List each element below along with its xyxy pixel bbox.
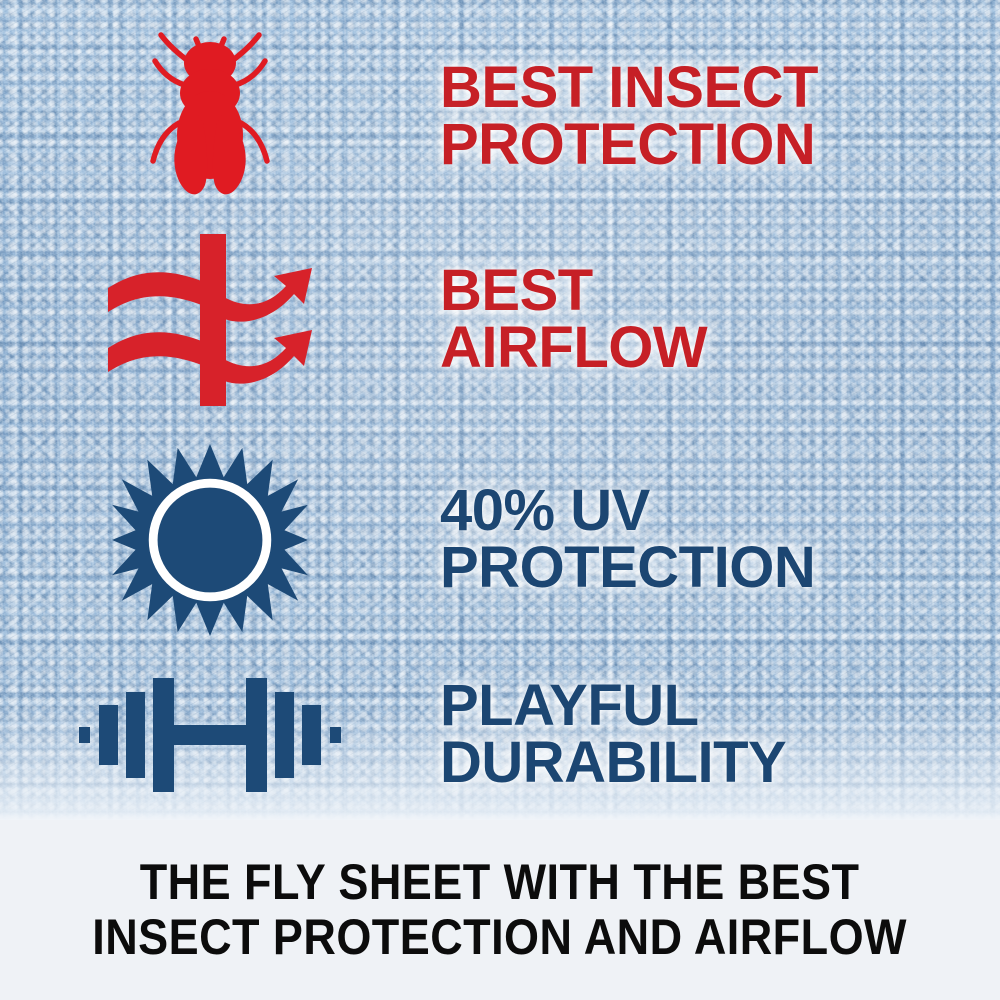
- sun-burst-icon: [112, 442, 308, 638]
- fly-icon: [135, 27, 285, 207]
- feature-icon-cell: [0, 442, 420, 638]
- feature-label-cell: 40% UV PROTECTION: [420, 483, 1000, 597]
- feature-label-cell: PLAYFUL DURABILITY: [420, 678, 1000, 792]
- poster-caption: THE FLY SHEET WITH THE BEST INSECT PROTE…: [93, 855, 908, 965]
- feature-label-durability: PLAYFUL DURABILITY: [440, 678, 1000, 792]
- feature-icon-cell: [0, 230, 420, 410]
- product-feature-poster: BEST INSECT PROTECTION BEST AIRFLOW: [0, 0, 1000, 1000]
- feature-label-insect-protection: BEST INSECT PROTECTION: [440, 60, 1000, 174]
- feature-label-uv-protection: 40% UV PROTECTION: [440, 483, 1000, 597]
- feature-row-uv-protection: 40% UV PROTECTION: [0, 440, 1000, 640]
- feature-label-cell: BEST INSECT PROTECTION: [420, 60, 1000, 174]
- feature-row-insect-protection: BEST INSECT PROTECTION: [0, 22, 1000, 212]
- feature-row-airflow: BEST AIRFLOW: [0, 225, 1000, 415]
- dumbbell-icon: [79, 670, 341, 800]
- feature-label-cell: BEST AIRFLOW: [420, 263, 1000, 377]
- feature-icon-cell: [0, 670, 420, 800]
- feature-row-durability: PLAYFUL DURABILITY: [0, 655, 1000, 815]
- caption-band: THE FLY SHEET WITH THE BEST INSECT PROTE…: [0, 820, 1000, 1000]
- feature-icon-cell: [0, 27, 420, 207]
- airflow-arrows-icon: [100, 230, 320, 410]
- feature-label-airflow: BEST AIRFLOW: [440, 263, 1000, 377]
